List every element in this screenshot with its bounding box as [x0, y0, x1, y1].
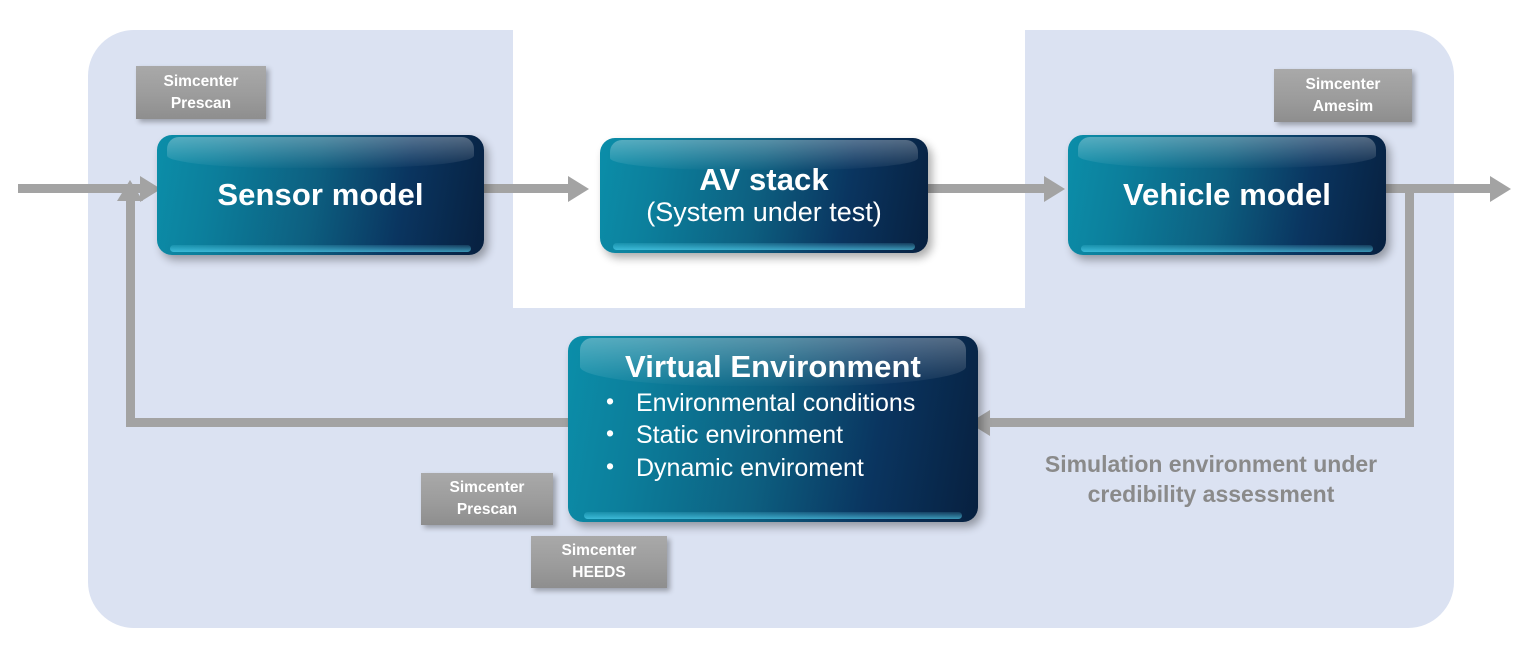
output-arrow-head [1490, 176, 1511, 202]
tag-line-2: Amesim [1313, 96, 1373, 118]
avstack-to-vehicle-line [928, 184, 1050, 193]
av-stack-title: AV stack [600, 163, 928, 198]
tag-line-2: Prescan [171, 93, 231, 115]
list-item: Dynamic enviroment [602, 452, 978, 485]
sensor-model-box[interactable]: Sensor model [157, 135, 484, 255]
virtual-environment-title: Virtual Environment [568, 350, 978, 385]
tag-line-2: Prescan [457, 499, 517, 521]
av-stack-subtitle: (System under test) [600, 197, 928, 228]
tag-line-1: Simcenter [1306, 74, 1381, 96]
output-arrow-line [1386, 184, 1496, 193]
tag-line-2: HEEDS [572, 562, 625, 584]
vehicle-model-title: Vehicle model [1068, 178, 1386, 213]
tag-simcenter-amesim-vehicle[interactable]: Simcenter Amesim [1274, 69, 1412, 122]
vehicle-model-box[interactable]: Vehicle model [1068, 135, 1386, 255]
feedback-horizontal-right [990, 418, 1410, 427]
feedback-horizontal-left [126, 418, 572, 427]
tag-simcenter-heeds[interactable]: Simcenter HEEDS [531, 536, 667, 588]
tag-line-1: Simcenter [164, 71, 239, 93]
sensor-to-avstack-arrow-head [568, 176, 589, 202]
caption-line-1: Simulation environment under [990, 450, 1432, 480]
tag-line-1: Simcenter [450, 477, 525, 499]
caption-line-2: credibility assessment [990, 480, 1432, 510]
sensor-to-avstack-line [484, 184, 574, 193]
list-item: Static environment [602, 419, 978, 452]
diagram-canvas: Sensor model AV stack (System under test… [0, 0, 1536, 658]
credibility-assessment-caption: Simulation environment under credibility… [990, 450, 1432, 510]
tag-simcenter-prescan-sensor[interactable]: Simcenter Prescan [136, 66, 266, 119]
sensor-model-title: Sensor model [157, 178, 484, 213]
feedback-vertical-right [1405, 184, 1414, 427]
av-stack-box[interactable]: AV stack (System under test) [600, 138, 928, 253]
feedback-vertical-left [126, 198, 135, 423]
virtual-environment-bullets: Environmental conditions Static environm… [568, 387, 978, 485]
feedback-to-sensor-arrow-head [117, 180, 143, 201]
virtual-environment-box[interactable]: Virtual Environment Environmental condit… [568, 336, 978, 522]
avstack-to-vehicle-arrow-head [1044, 176, 1065, 202]
tag-line-1: Simcenter [562, 540, 637, 562]
list-item: Environmental conditions [602, 387, 978, 420]
tag-simcenter-prescan-environment[interactable]: Simcenter Prescan [421, 473, 553, 525]
